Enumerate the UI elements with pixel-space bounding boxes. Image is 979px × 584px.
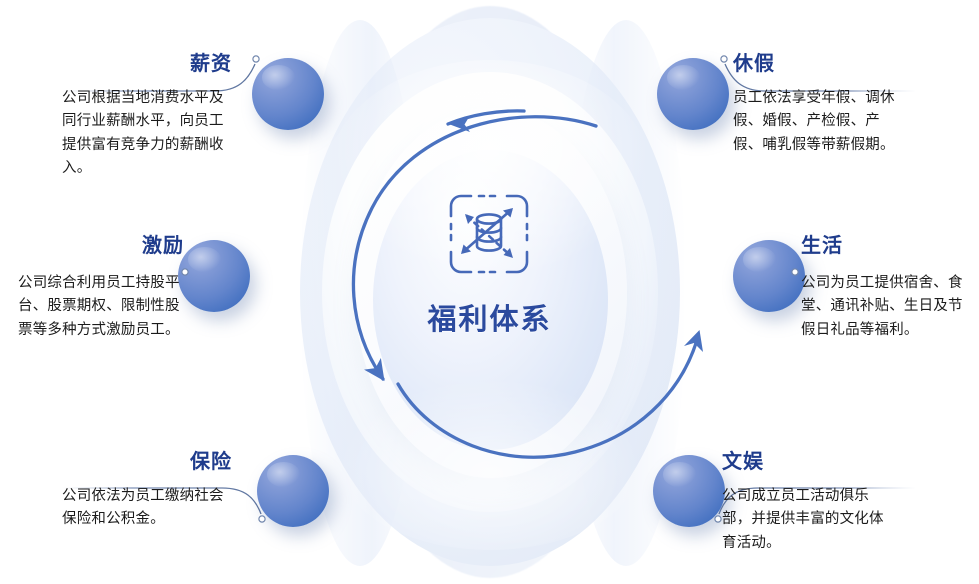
item-vacation-heading: 休假 [733,52,905,74]
node-life[interactable] [733,240,805,312]
item-incentive-heading: 激励 [18,234,192,256]
node-vacation[interactable] [657,58,729,130]
item-culture-desc: 公司成立员工活动俱乐部，并提供丰富的文化体育活动。 [722,485,894,555]
orbit-database-icon [441,186,537,282]
item-salary-desc: 公司根据当地消费水平及同行业薪酬水平，向员工提供富有竞争力的薪酬收入。 [62,87,232,181]
node-culture[interactable] [653,455,725,527]
item-vacation-desc: 员工依法享受年假、调休假、婚假、产检假、产假、哺乳假等带薪假期。 [733,87,905,157]
item-incentive[interactable]: 激励 公司综合利用员工持股平台、股票期权、限制性股票等多种方式激励员工。 [18,234,192,342]
item-insurance-heading: 保险 [62,450,232,472]
item-salary[interactable]: 薪资 公司根据当地消费水平及同行业薪酬水平，向员工提供富有竞争力的薪酬收入。 [62,52,232,181]
item-culture-heading: 文娱 [722,450,894,472]
node-salary[interactable] [252,58,324,130]
item-insurance[interactable]: 保险 公司依法为员工缴纳社会保险和公积金。 [62,450,232,532]
item-life-desc: 公司为员工提供宿舍、食堂、通讯补贴、生日及节假日礼品等福利。 [801,272,969,342]
item-culture[interactable]: 文娱 公司成立员工活动俱乐部，并提供丰富的文化体育活动。 [722,450,894,555]
item-vacation[interactable]: 休假 员工依法享受年假、调休假、婚假、产检假、产假、哺乳假等带薪假期。 [733,52,905,157]
node-insurance[interactable] [257,455,329,527]
item-incentive-desc: 公司综合利用员工持股平台、股票期权、限制性股票等多种方式激励员工。 [18,272,192,342]
item-life[interactable]: 生活 公司为员工提供宿舍、食堂、通讯补贴、生日及节假日礼品等福利。 [801,234,969,342]
item-salary-heading: 薪资 [62,52,232,74]
infographic-canvas: 福利体系 [0,0,979,584]
item-life-heading: 生活 [801,234,969,256]
item-insurance-desc: 公司依法为员工缴纳社会保险和公积金。 [62,485,232,532]
